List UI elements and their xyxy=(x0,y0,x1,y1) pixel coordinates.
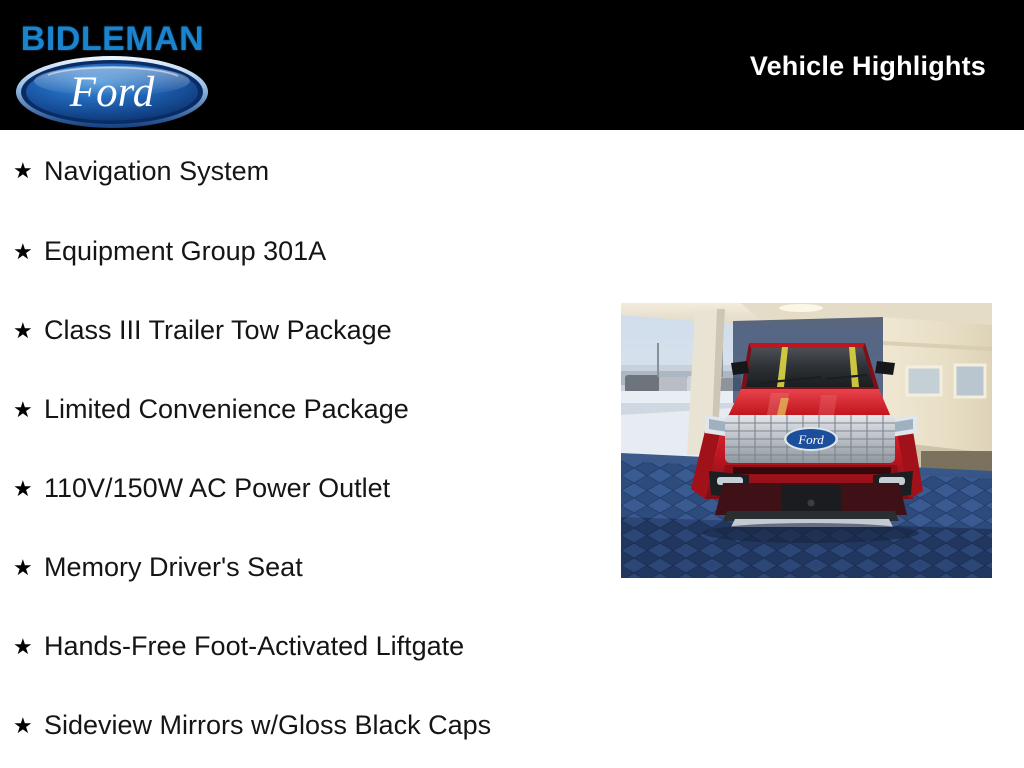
dealer-name-text: BIDLEMAN xyxy=(10,22,215,56)
vehicle-highlights-list: ★ Navigation System ★ Equipment Group 30… xyxy=(0,130,600,765)
list-item-label: Equipment Group 301A xyxy=(44,236,326,267)
list-item-label: 110V/150W AC Power Outlet xyxy=(44,473,390,504)
star-icon: ★ xyxy=(13,160,33,182)
list-item: ★ Hands-Free Foot-Activated Liftgate xyxy=(0,607,600,686)
header-bar: BIDLEMAN xyxy=(0,0,1024,130)
list-item: ★ Navigation System xyxy=(0,130,600,212)
star-icon: ★ xyxy=(13,241,33,263)
list-item-label: Class III Trailer Tow Package xyxy=(44,315,392,346)
list-item: ★ Class III Trailer Tow Package xyxy=(0,291,600,370)
vehicle-photo[interactable]: Ford xyxy=(621,303,992,578)
ford-oval-logo-icon: Ford xyxy=(14,54,210,130)
list-item: ★ Memory Driver's Seat xyxy=(0,528,600,607)
star-icon: ★ xyxy=(13,557,33,579)
star-icon: ★ xyxy=(13,320,33,342)
list-item-label: Memory Driver's Seat xyxy=(44,552,303,583)
svg-text:Ford: Ford xyxy=(797,432,824,447)
list-item-label: Navigation System xyxy=(44,156,269,187)
list-item: ★ Limited Convenience Package xyxy=(0,370,600,449)
list-item: ★ Sideview Mirrors w/Gloss Black Caps xyxy=(0,686,600,765)
list-item: ★ Equipment Group 301A xyxy=(0,212,600,291)
page-title: Vehicle Highlights xyxy=(750,50,986,82)
star-icon: ★ xyxy=(13,715,33,737)
list-item-label: Limited Convenience Package xyxy=(44,394,409,425)
list-item-label: Hands-Free Foot-Activated Liftgate xyxy=(44,631,464,662)
star-icon: ★ xyxy=(13,478,33,500)
star-icon: ★ xyxy=(13,399,33,421)
dealer-logo[interactable]: BIDLEMAN xyxy=(10,4,215,128)
svg-text:Ford: Ford xyxy=(69,69,155,116)
list-item-label: Sideview Mirrors w/Gloss Black Caps xyxy=(44,710,491,741)
star-icon: ★ xyxy=(13,636,33,658)
list-item: ★ 110V/150W AC Power Outlet xyxy=(0,449,600,528)
